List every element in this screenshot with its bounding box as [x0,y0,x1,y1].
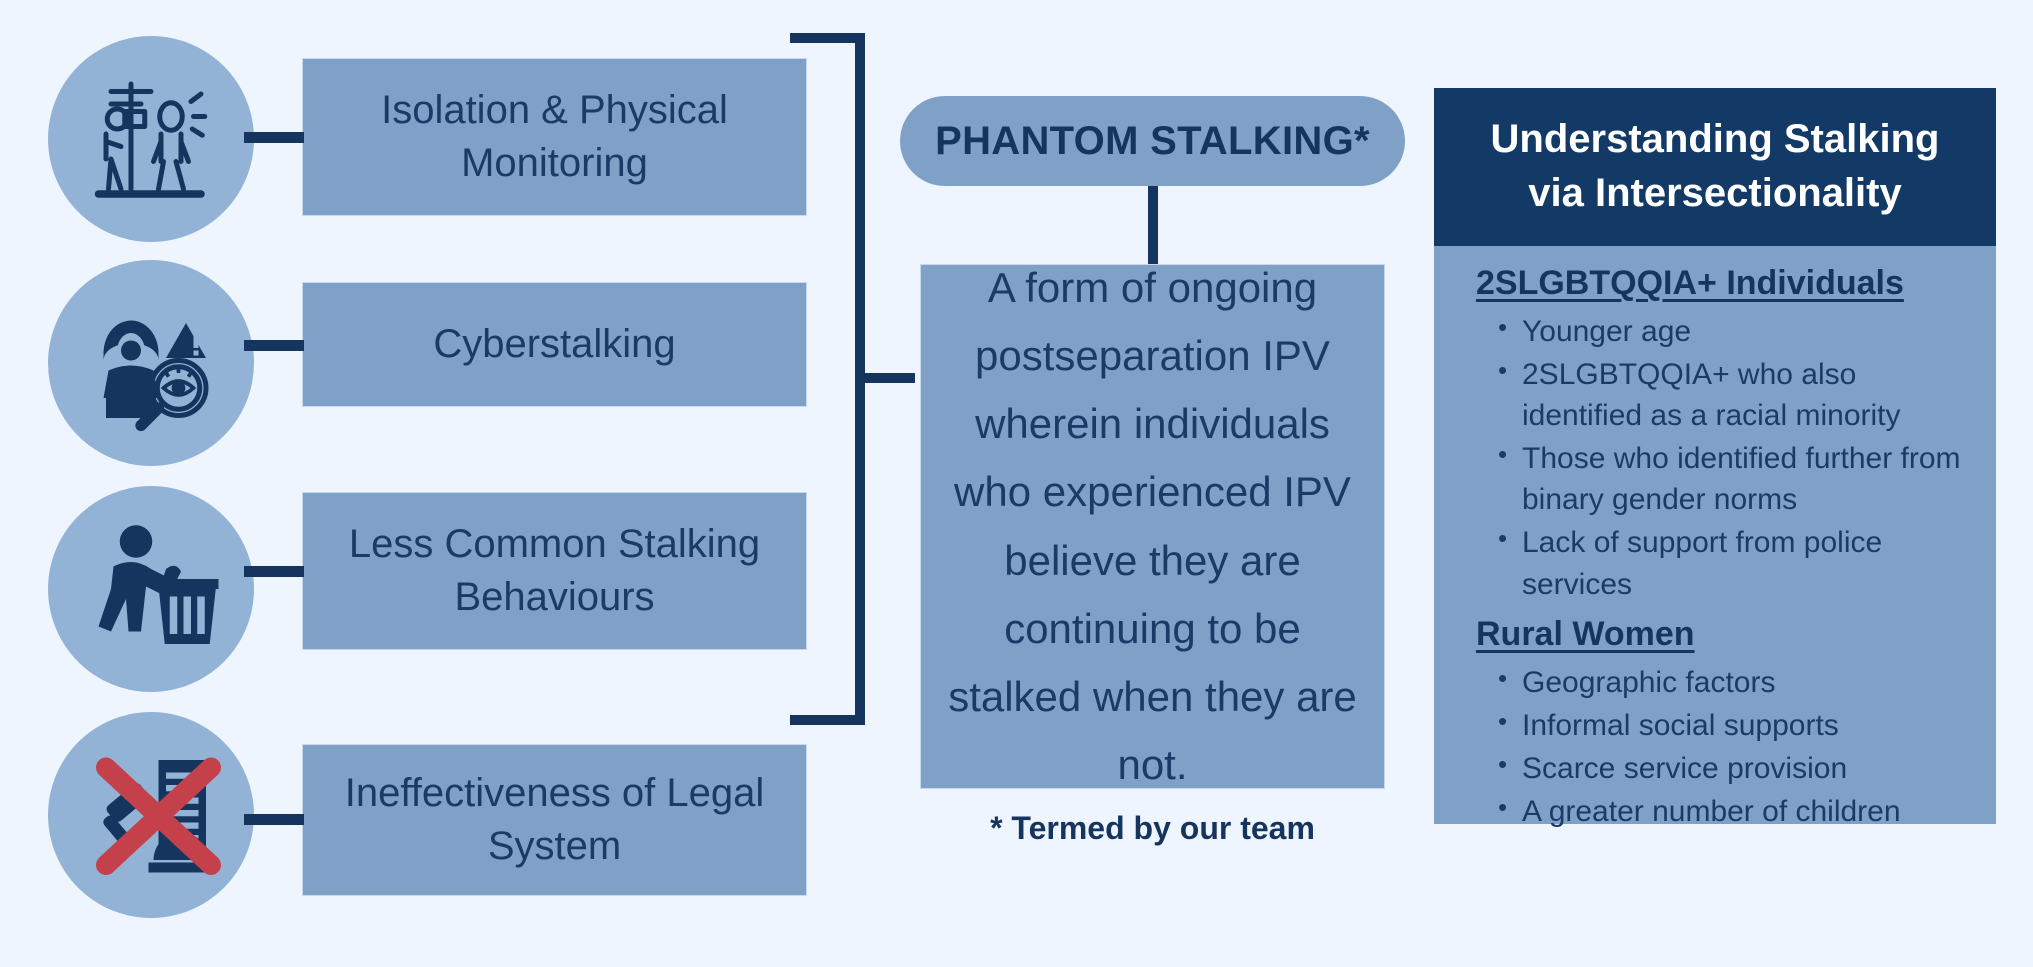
intersectionality-panel: Understanding Stalking via Intersectiona… [1434,88,1996,824]
gavel-document-crossed-out-icon [48,712,254,918]
category-label: Cyberstalking [433,318,675,371]
phantom-stalking-pill[interactable]: PHANTOM STALKING* [900,96,1405,186]
list-item: Lack of support from police services [1494,522,1970,604]
connector-line-4 [244,814,304,825]
bullet-list-rural-women: Geographic factors Informal social suppo… [1460,662,1970,832]
phantom-stalking-definition-box: A form of ongoing postseparation IPV whe… [920,264,1385,789]
list-item: Those who identified further from binary… [1494,438,1970,520]
connector-line-1 [244,132,304,143]
category-box-ineffectiveness-of-legal-system[interactable]: Ineffectiveness of Legal System [302,744,807,896]
bullet-list-2slgbtqqia: Younger age 2SLGBTQQIA+ who also identif… [1460,311,1970,605]
connector-line-2 [244,340,304,351]
surveillance-camera-watching-person-icon [48,36,254,242]
person-throwing-trash-in-bin-icon [48,486,254,692]
footnote-termed-by-our-team: * Termed by our team [920,810,1385,847]
bracket-arm-bottom [790,715,865,725]
panel-header-title: Understanding Stalking via Intersectiona… [1491,117,1940,215]
category-label: Less Common Stalking Behaviours [321,518,788,624]
list-item: Informal social supports [1494,705,1970,746]
panel-body: 2SLGBTQQIA+ Individuals Younger age 2SLG… [1434,246,1996,854]
category-box-isolation-physical-monitoring[interactable]: Isolation & Physical Monitoring [302,58,807,216]
bracket-stub-right [855,373,915,383]
connector-line-3 [244,566,304,577]
phantom-stalking-label: PHANTOM STALKING* [935,119,1370,164]
group-title: Rural Women [1476,615,1695,654]
infographic-canvas: Isolation & Physical Monitoring [0,0,2033,967]
category-box-less-common-stalking-behaviours[interactable]: Less Common Stalking Behaviours [302,492,807,650]
group-title: 2SLGBTQQIA+ Individuals [1476,264,1904,303]
group-rural-women: Rural Women Geographic factors Informal … [1460,609,1970,832]
hooded-hacker-laptop-warning-magnifier-eye-icon [48,260,254,466]
list-item: Scarce service provision [1494,748,1970,789]
category-box-cyberstalking[interactable]: Cyberstalking [302,282,807,407]
list-item: 2SLGBTQQIA+ who also identified as a rac… [1494,354,1970,436]
panel-header: Understanding Stalking via Intersectiona… [1434,88,1996,246]
list-item: Geographic factors [1494,662,1970,703]
definition-text: A form of ongoing postseparation IPV whe… [941,254,1364,798]
list-item: A greater number of children [1494,791,1970,832]
pill-to-definition-stem [1148,186,1158,264]
category-label: Isolation & Physical Monitoring [321,84,788,190]
category-label: Ineffectiveness of Legal System [321,767,788,873]
bracket-arm-top [790,33,865,43]
group-2slgbtqqia-individuals: 2SLGBTQQIA+ Individuals Younger age 2SLG… [1460,258,1970,605]
list-item: Younger age [1494,311,1970,352]
